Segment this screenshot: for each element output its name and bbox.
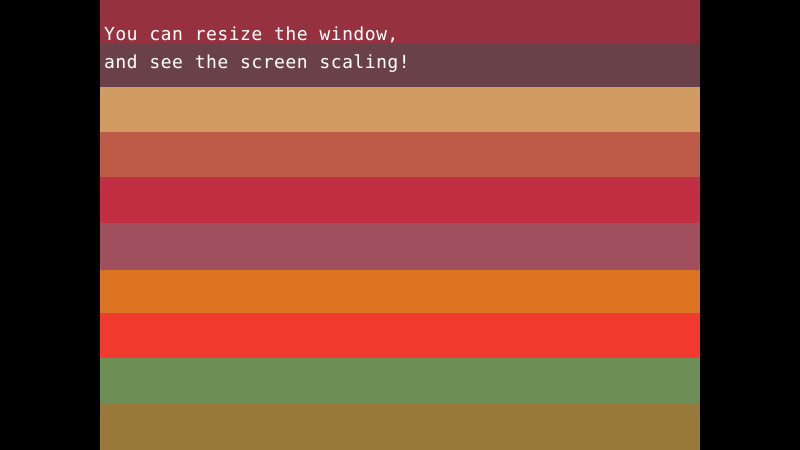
- band-tan: [100, 87, 700, 132]
- band-bright-red: [100, 313, 700, 358]
- band-brick: [100, 132, 700, 177]
- band-olive-gold: [100, 403, 700, 450]
- band-mauve: [100, 43, 700, 87]
- band-orange: [100, 270, 700, 313]
- band-green: [100, 358, 700, 403]
- band-crimson: [100, 177, 700, 223]
- letterbox-bar-right: [700, 0, 800, 450]
- band-dark-red: [100, 0, 700, 43]
- band-rose: [100, 223, 700, 270]
- app-window: You can resize the window, and see the s…: [0, 0, 800, 450]
- color-band-stack: [100, 0, 700, 450]
- letterbox-bar-left: [0, 0, 100, 450]
- game-viewport[interactable]: You can resize the window, and see the s…: [100, 0, 700, 450]
